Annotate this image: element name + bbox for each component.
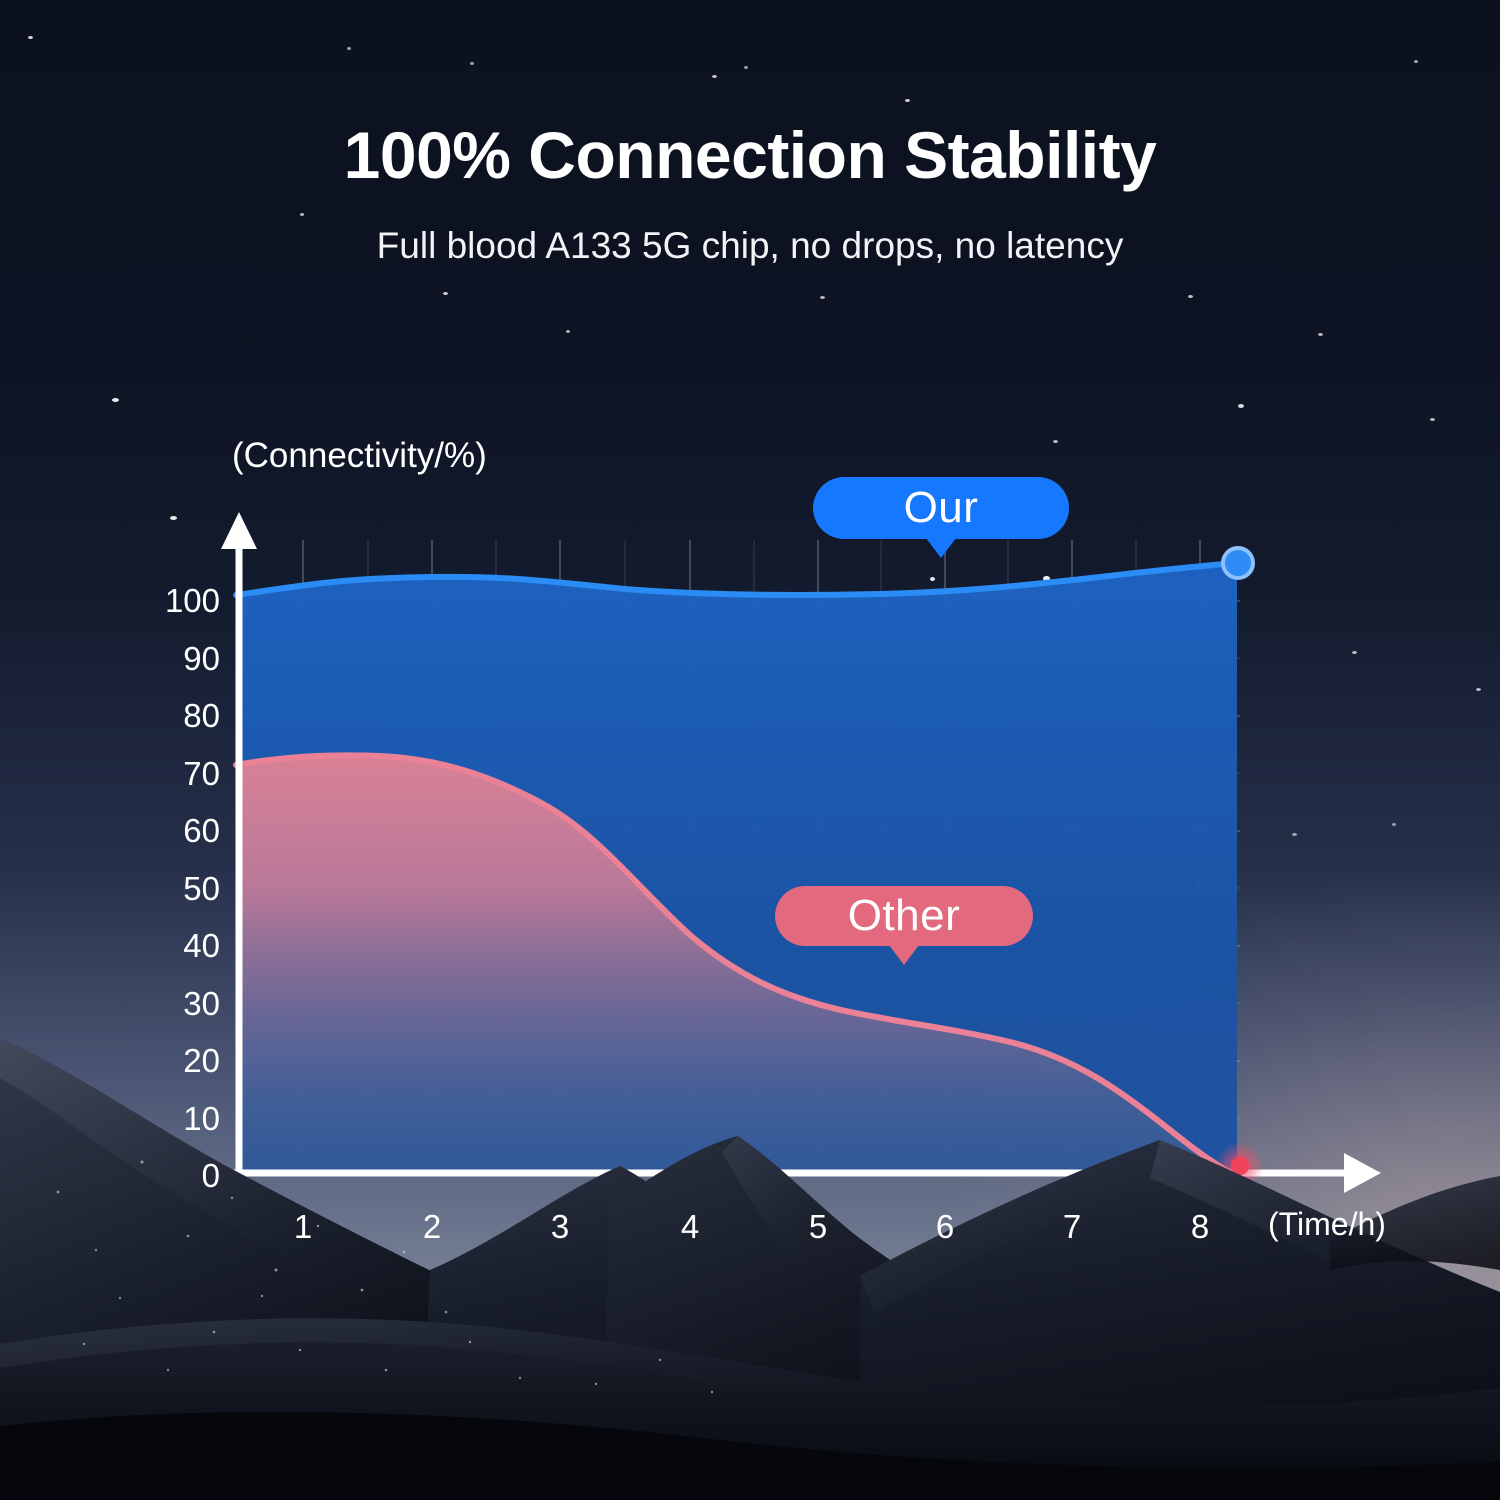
y-tick-label: 80: [140, 697, 220, 735]
y-tick-label: 100: [140, 582, 220, 620]
y-axis-title: (Connectivity/%): [232, 436, 487, 476]
x-tick-label: 7: [1063, 1208, 1081, 1246]
y-tick-label: 60: [140, 812, 220, 850]
callout-tail-icon: [889, 945, 919, 965]
y-tick-label: 0: [140, 1157, 220, 1195]
y-tick-label: 20: [140, 1042, 220, 1080]
x-tick-label: 5: [809, 1208, 827, 1246]
promo-graphic: 100% Connection Stability Full blood A13…: [0, 0, 1500, 1500]
x-tick-label: 8: [1191, 1208, 1209, 1246]
y-tick-label: 40: [140, 927, 220, 965]
legend-callout-other[interactable]: Other: [775, 886, 1033, 946]
y-tick-label: 70: [140, 755, 220, 793]
legend-callout-our-label: Our: [904, 483, 979, 533]
our-endpoint-dot: [1223, 548, 1253, 578]
x-tick-label: 1: [294, 1208, 312, 1246]
y-tick-label: 50: [140, 870, 220, 908]
y-tick-label: 10: [140, 1100, 220, 1138]
x-tick-label: 6: [936, 1208, 954, 1246]
legend-callout-other-label: Other: [848, 891, 961, 941]
x-tick-label: 3: [551, 1208, 569, 1246]
page-title: 100% Connection Stability: [0, 117, 1500, 193]
y-tick-label: 30: [140, 985, 220, 1023]
x-tick-label: 2: [423, 1208, 441, 1246]
callout-tail-icon: [926, 538, 956, 558]
legend-callout-our[interactable]: Our: [813, 477, 1069, 539]
x-axis-title: (Time/h): [1268, 1206, 1386, 1243]
y-axis-arrow: [221, 512, 257, 549]
y-axis-tick-labels: 100 90 80 70 60 50 40 30 20 10 0: [140, 0, 220, 1500]
page-subtitle: Full blood A133 5G chip, no drops, no la…: [0, 225, 1500, 267]
x-tick-label: 4: [681, 1208, 699, 1246]
y-tick-label: 90: [140, 640, 220, 678]
